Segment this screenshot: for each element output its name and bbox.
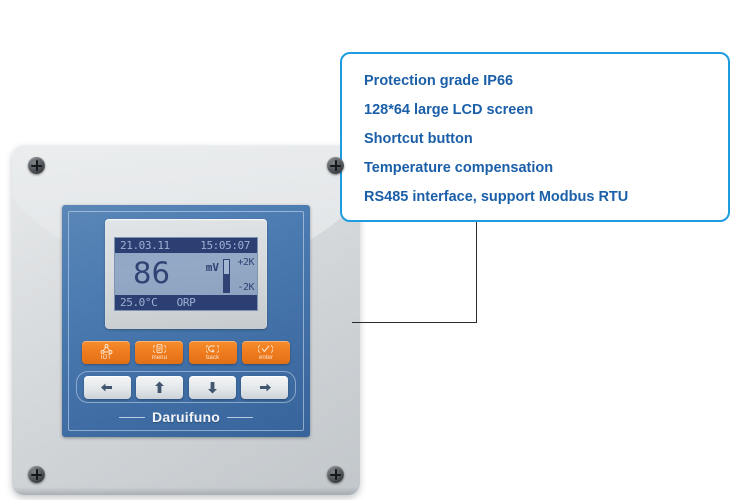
lcd-time: 15:05:07 <box>200 239 250 252</box>
brand-rule-left <box>119 417 145 418</box>
lcd-temperature: 25.0°C <box>120 296 157 309</box>
arrow-up-button[interactable] <box>136 376 183 399</box>
iot-button-label: IOT <box>101 354 111 362</box>
controller-device: 21.03.11 15:05:07 86 mV +2K -2K 25.0°C <box>12 145 360 495</box>
function-button-row: IOT menu <box>82 341 290 364</box>
screw-top-left-icon <box>28 157 45 174</box>
brand-rule-right <box>227 417 253 418</box>
lcd-measurement-mode: ORP <box>177 296 196 309</box>
lcd-bezel: 21.03.11 15:05:07 86 mV +2K -2K 25.0°C <box>105 219 267 329</box>
arrow-left-button[interactable] <box>84 376 131 399</box>
lcd-gauge-min-label: -2K <box>237 282 254 293</box>
callout-leader-line-vertical <box>476 222 477 323</box>
arrow-up-icon <box>154 380 165 395</box>
return-arrow-icon <box>206 343 219 354</box>
callout-leader-line-horizontal <box>352 322 477 323</box>
lcd-bar-gauge <box>223 259 230 293</box>
arrow-left-icon <box>99 382 116 393</box>
lcd-status-bar: 25.0°C ORP <box>115 295 257 310</box>
screw-bottom-right-icon <box>327 466 344 483</box>
lcd-measured-value: 86 <box>133 259 170 288</box>
screw-top-right-icon <box>327 157 344 174</box>
enter-button-label: enter <box>259 354 273 362</box>
lcd-title-bar: 21.03.11 15:05:07 <box>115 238 257 253</box>
front-panel: 21.03.11 15:05:07 86 mV +2K -2K 25.0°C <box>62 205 310 437</box>
menu-button[interactable]: menu <box>135 341 183 364</box>
feature-item-3: Shortcut button <box>364 125 728 154</box>
back-button-label: back <box>206 354 219 362</box>
arrow-down-icon <box>207 380 218 395</box>
navigation-button-group <box>76 371 296 403</box>
lcd-bar-gauge-fill <box>224 274 229 292</box>
brand-name: Daruifuno <box>152 409 220 425</box>
lcd-gauge-max-label: +2K <box>237 257 254 268</box>
iot-button[interactable]: IOT <box>82 341 130 364</box>
brand-nameplate: Daruifuno <box>62 409 310 425</box>
document-menu-icon <box>153 343 166 354</box>
checkmark-icon <box>258 343 273 354</box>
arrow-right-icon <box>256 382 273 393</box>
iot-network-icon <box>100 343 113 354</box>
feature-item-5: RS485 interface, support Modbus RTU <box>364 183 728 212</box>
lcd-date: 21.03.11 <box>120 239 170 252</box>
arrow-down-button[interactable] <box>189 376 236 399</box>
feature-item-2: 128*64 large LCD screen <box>364 96 728 125</box>
back-button[interactable]: back <box>189 341 237 364</box>
lcd-unit-label: mV <box>206 261 219 274</box>
lcd-screen[interactable]: 21.03.11 15:05:07 86 mV +2K -2K 25.0°C <box>114 237 258 311</box>
lcd-reading-area: 86 mV +2K -2K <box>115 253 257 295</box>
product-feature-illustration: 21.03.11 15:05:07 86 mV +2K -2K 25.0°C <box>0 0 750 500</box>
menu-button-label: menu <box>152 354 167 362</box>
feature-item-4: Temperature compensation <box>364 154 728 183</box>
enter-button[interactable]: enter <box>242 341 290 364</box>
feature-callout-box: Protection grade IP66 128*64 large LCD s… <box>340 52 730 222</box>
screw-bottom-left-icon <box>28 466 45 483</box>
feature-item-1: Protection grade IP66 <box>364 67 728 96</box>
arrow-right-button[interactable] <box>241 376 288 399</box>
